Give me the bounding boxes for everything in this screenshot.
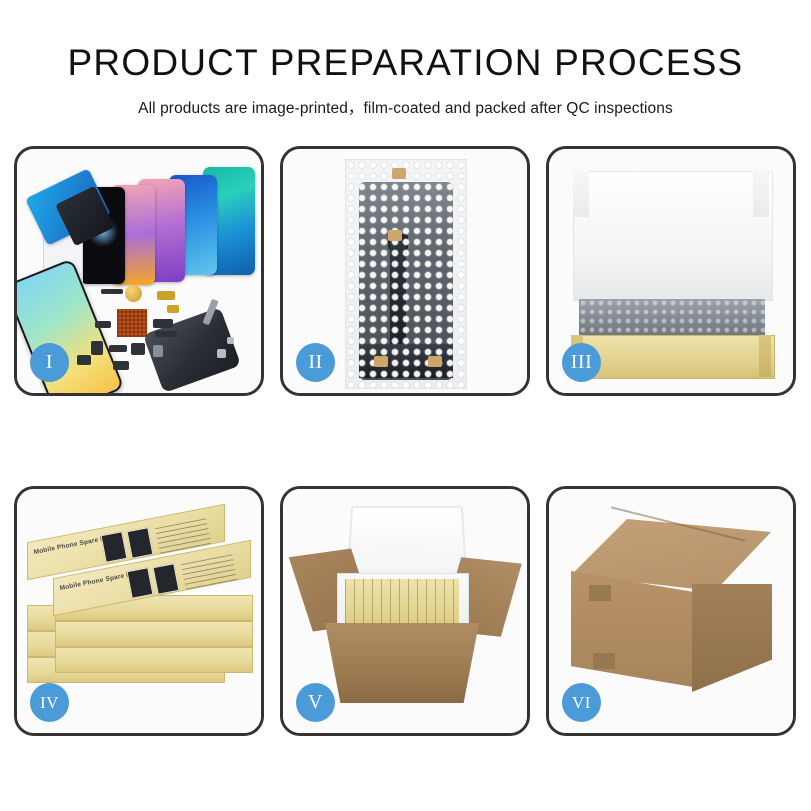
- carton-body: [325, 623, 479, 703]
- kraft-box-tray: [571, 335, 775, 379]
- header: PRODUCT PREPARATION PROCESS All products…: [0, 0, 811, 118]
- step-panel-3: III: [546, 146, 796, 396]
- spare-part: [95, 321, 111, 328]
- spare-part: [109, 345, 127, 352]
- ic-chip-grid: [117, 309, 147, 337]
- bubble-wrap-lining: [579, 299, 765, 337]
- step-panel-2: II: [280, 146, 530, 396]
- spare-part: [113, 361, 129, 370]
- step-panel-1: I: [14, 146, 264, 396]
- tape-strip: [392, 168, 406, 179]
- carton-tab-upper: [589, 585, 611, 601]
- packed-kraft-boxes: [345, 579, 459, 625]
- tape-strip: [388, 230, 402, 241]
- step-panel-4: Mobile Phone Spare Parts Mobile Phone Sp…: [14, 486, 264, 736]
- spare-part: [153, 345, 163, 357]
- spare-part: [101, 289, 123, 294]
- step-badge-2: II: [296, 343, 335, 382]
- page-title: PRODUCT PREPARATION PROCESS: [0, 44, 811, 81]
- step-panel-6: VI: [546, 486, 796, 736]
- carton-tab-lower: [593, 653, 615, 669]
- process-steps-grid: I II: [14, 146, 797, 736]
- spare-part: [91, 341, 103, 355]
- screw-part: [217, 349, 226, 358]
- tape-strip: [374, 356, 388, 367]
- step-badge-1: I: [30, 343, 69, 382]
- tape-strip: [428, 356, 442, 367]
- spare-part: [153, 319, 173, 328]
- step-badge-4: IV: [30, 683, 69, 722]
- copper-coil-part: [125, 285, 142, 302]
- step-panel-5: V: [280, 486, 530, 736]
- screw-part: [227, 337, 234, 344]
- kraft-box: [55, 647, 253, 673]
- lid-side-left: [573, 171, 589, 217]
- step-badge-5: V: [296, 683, 335, 722]
- step-badge-3: III: [562, 343, 601, 382]
- foam-box-lid: [347, 506, 468, 579]
- spare-part: [157, 291, 175, 300]
- kraft-box: [55, 621, 253, 647]
- white-box-lid: [573, 171, 773, 301]
- spare-part: [155, 331, 177, 337]
- page-subtitle: All products are image-printed，film-coat…: [0, 96, 811, 118]
- tray-corner-right: [759, 335, 771, 377]
- lid-side-right: [753, 171, 769, 217]
- spare-part: [77, 355, 91, 365]
- spare-part: [167, 305, 179, 313]
- infographic-page: PRODUCT PREPARATION PROCESS All products…: [0, 0, 811, 811]
- spare-part: [131, 343, 145, 355]
- step-badge-6: VI: [562, 683, 601, 722]
- bubble-wrap-bag: [345, 159, 467, 389]
- bubble-texture: [346, 160, 466, 388]
- carton-side-face: [692, 584, 772, 692]
